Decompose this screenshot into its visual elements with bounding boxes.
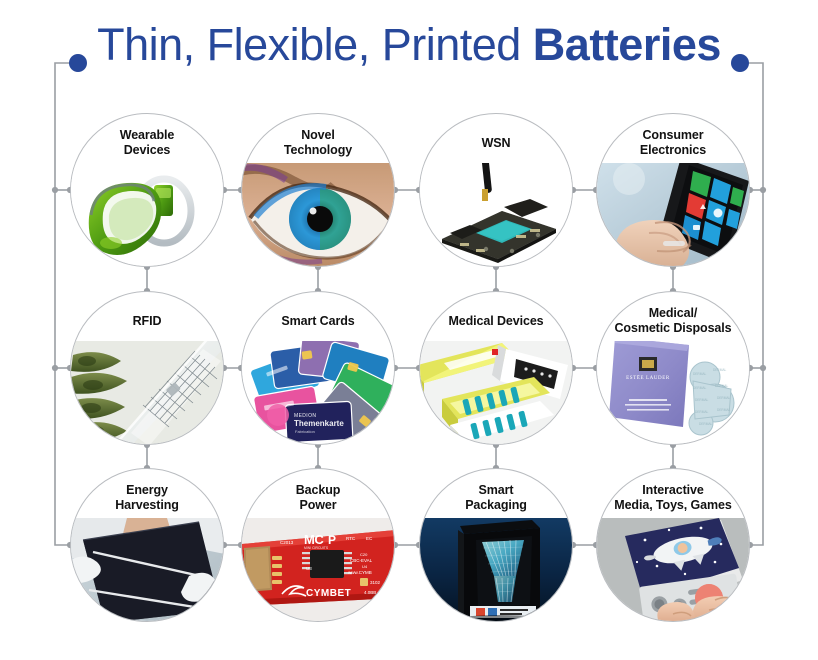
art-red-cymbet-pcb: MC P MINI CIRCUITS RTC EC CBC-EVAL www.C…	[242, 518, 395, 622]
art-green-flexible-wristband	[71, 163, 224, 267]
art-fanned-smart-cards: MEDION Themenkarte Fabrication	[242, 341, 395, 445]
svg-text:C20: C20	[360, 552, 368, 557]
svg-text:3102: 3102	[370, 580, 381, 585]
node-label-smart-cards: Smart Cards	[242, 314, 394, 329]
svg-text:DERMAL: DERMAL	[713, 368, 727, 372]
node-interactive-media[interactable]: InteractiveMedia, Toys, Games	[596, 468, 750, 622]
svg-text:MINI CIRCUITS: MINI CIRCUITS	[304, 546, 329, 550]
art-childrens-sound-book	[597, 518, 750, 622]
svg-text:DERMAL: DERMAL	[717, 396, 731, 400]
svg-text:EC: EC	[366, 536, 373, 541]
node-wearable-devices[interactable]: WearableDevices	[70, 113, 224, 267]
node-rfid[interactable]: RFID	[70, 291, 224, 445]
svg-text:RTC: RTC	[346, 536, 356, 541]
node-medical-cosmetic-disposals[interactable]: Medical/Cosmetic Disposals ESTĒE LAUDER	[596, 291, 750, 445]
art-rfid-tag-asparagus-pack	[71, 341, 224, 445]
frame-right	[733, 63, 763, 545]
art-wireless-sensor-board	[420, 163, 573, 267]
art-illuminated-product-box	[420, 518, 573, 622]
svg-text:CYMBET: CYMBET	[306, 588, 351, 599]
node-energy-harvesting[interactable]: EnergyHarvesting	[70, 468, 224, 622]
accent-dot-left	[69, 54, 87, 72]
svg-text:DERMAL: DERMAL	[693, 386, 707, 390]
art-hand-holding-smartphone	[597, 163, 750, 267]
accent-dot-right	[731, 54, 749, 72]
svg-text:U3: U3	[306, 566, 312, 571]
node-label-rfid: RFID	[71, 314, 223, 329]
svg-text:4.0BB: 4.0BB	[364, 590, 376, 595]
svg-text:CBC-EVAL: CBC-EVAL	[350, 558, 373, 563]
svg-text:U4: U4	[362, 564, 368, 569]
svg-text:Themenkarte: Themenkarte	[294, 419, 344, 428]
svg-text:Fabrication: Fabrication	[295, 429, 315, 434]
svg-text:C2013: C2013	[280, 540, 294, 545]
svg-text:www.CYMB: www.CYMB	[348, 570, 372, 575]
infographic-canvas: Thin, Flexible, Printed Batteries	[0, 0, 818, 660]
svg-text:ESTĒE LAUDER: ESTĒE LAUDER	[626, 375, 670, 381]
node-medical-devices[interactable]: Medical Devices	[419, 291, 573, 445]
art-solar-cell-in-hands	[71, 518, 224, 622]
node-backup-power[interactable]: BackupPower	[241, 468, 395, 622]
node-label-wsn: WSN	[420, 136, 572, 151]
svg-text:DERMAL: DERMAL	[717, 408, 731, 412]
frame-left	[55, 63, 85, 545]
svg-text:DERMAL: DERMAL	[699, 422, 713, 426]
svg-text:DERMAL: DERMAL	[693, 372, 707, 376]
node-novel-technology[interactable]: NovelTechnology	[241, 113, 395, 267]
art-eye-contact-lens	[242, 163, 395, 267]
art-cosmetic-patch-sachet: ESTĒE LAUDER DERMALDERMAL DERMALDERMAL D…	[597, 341, 750, 445]
art-medical-test-kit	[420, 341, 573, 445]
svg-text:P: P	[328, 533, 336, 547]
svg-text:DERMAL: DERMAL	[695, 410, 709, 414]
node-smart-cards[interactable]: Smart Cards	[241, 291, 395, 445]
node-label-medical-devices: Medical Devices	[420, 314, 572, 329]
title-accent-dots	[69, 54, 749, 72]
node-consumer-electronics[interactable]: ConsumerElectronics	[596, 113, 750, 267]
svg-text:DERMAL: DERMAL	[715, 384, 729, 388]
svg-text:MC: MC	[304, 532, 324, 547]
node-wsn[interactable]: WSN	[419, 113, 573, 267]
svg-text:DERMAL: DERMAL	[695, 398, 709, 402]
node-smart-packaging[interactable]: SmartPackaging	[419, 468, 573, 622]
